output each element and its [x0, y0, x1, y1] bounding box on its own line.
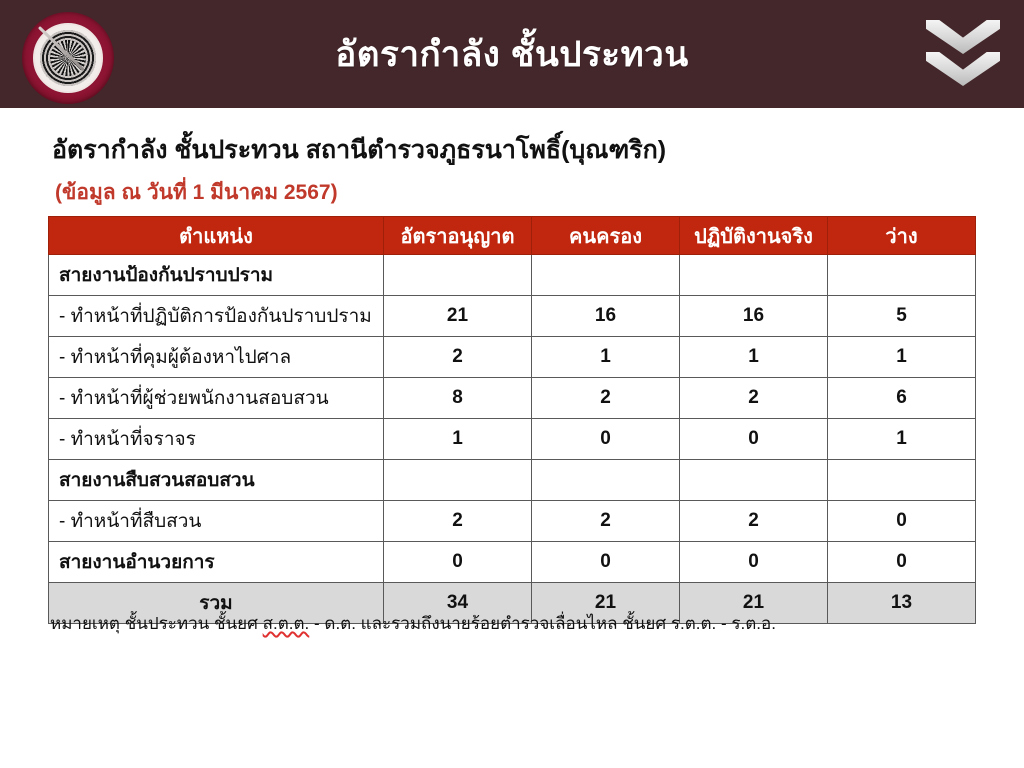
cell-filled: 1 — [532, 337, 680, 378]
table-header-row: ตำแหน่ง อัตราอนุญาต คนครอง ปฏิบัติงานจริ… — [49, 217, 976, 255]
cell-vacant — [828, 460, 976, 501]
table-row: - ทำหน้าที่ปฏิบัติการป้องกันปราบปราม2116… — [49, 296, 976, 337]
cell-allowed: 2 — [384, 501, 532, 542]
cell-position: สายงานอำนวยการ — [49, 542, 384, 583]
cell-position: - ทำหน้าที่สืบสวน — [49, 501, 384, 542]
cell-vacant: 0 — [828, 542, 976, 583]
cell-actual: 0 — [680, 419, 828, 460]
cell-vacant: 0 — [828, 501, 976, 542]
footnote-suffix: - ด.ต. และรวมถึงนายร้อยตำรวจเลื่อนไหล ชั… — [309, 614, 776, 633]
cell-vacant: 1 — [828, 419, 976, 460]
table-row: สายงานสืบสวนสอบสวน — [49, 460, 976, 501]
cell-position: สายงานสืบสวนสอบสวน — [49, 460, 384, 501]
as-of-date: (ข้อมูล ณ วันที่ 1 มีนาคม 2567) — [55, 176, 338, 209]
cell-position: - ทำหน้าที่ผู้ช่วยพนักงานสอบสวน — [49, 378, 384, 419]
column-header-filled: คนครอง — [532, 217, 680, 255]
cell-actual: 1 — [680, 337, 828, 378]
table-row: - ทำหน้าที่สืบสวน2220 — [49, 501, 976, 542]
slide-root: อัตรากำลัง ชั้นประทวน อัตรากำลัง ชั้นประ… — [0, 0, 1024, 768]
cell-position: - ทำหน้าที่คุมผู้ต้องหาไปศาล — [49, 337, 384, 378]
cell-vacant — [828, 255, 976, 296]
cell-actual: 2 — [680, 378, 828, 419]
cell-actual: 16 — [680, 296, 828, 337]
content-subtitle: อัตรากำลัง ชั้นประทวน สถานีตำรวจภูธรนาโพ… — [52, 130, 666, 170]
cell-vacant: 6 — [828, 378, 976, 419]
cell-allowed: 0 — [384, 542, 532, 583]
footnote-misspelled-term: ส.ต.ต. — [263, 614, 310, 633]
cell-allowed — [384, 255, 532, 296]
cell-allowed: 1 — [384, 419, 532, 460]
cell-actual: 0 — [680, 542, 828, 583]
content-area: อัตรากำลัง ชั้นประทวน สถานีตำรวจภูธรนาโพ… — [0, 108, 1024, 768]
table-row: - ทำหน้าที่ผู้ช่วยพนักงานสอบสวน8226 — [49, 378, 976, 419]
cell-actual — [680, 255, 828, 296]
page-title: อัตรากำลัง ชั้นประทวน — [0, 0, 1024, 108]
column-header-allowed: อัตราอนุญาต — [384, 217, 532, 255]
manning-table-wrapper: ตำแหน่ง อัตราอนุญาต คนครอง ปฏิบัติงานจริ… — [48, 216, 975, 624]
cell-filled: 2 — [532, 378, 680, 419]
cell-filled: 0 — [532, 542, 680, 583]
cell-filled: 16 — [532, 296, 680, 337]
column-header-actual: ปฏิบัติงานจริง — [680, 217, 828, 255]
double-chevron-rank-insignia-icon — [920, 14, 1006, 100]
cell-actual — [680, 460, 828, 501]
cell-filled — [532, 255, 680, 296]
manning-table: ตำแหน่ง อัตราอนุญาต คนครอง ปฏิบัติงานจริ… — [48, 216, 976, 624]
cell-position: - ทำหน้าที่ปฏิบัติการป้องกันปราบปราม — [49, 296, 384, 337]
cell-filled — [532, 460, 680, 501]
chevron-down-icon-top — [926, 20, 1000, 54]
cell-allowed — [384, 460, 532, 501]
table-row: สายงานป้องกันปราบปราม — [49, 255, 976, 296]
footnote-prefix: หมายเหตุ ชั้นประทวน ชั้นยศ — [50, 614, 263, 633]
table-row: - ทำหน้าที่จราจร1001 — [49, 419, 976, 460]
table-row: - ทำหน้าที่คุมผู้ต้องหาไปศาล2111 — [49, 337, 976, 378]
cell-position: สายงานป้องกันปราบปราม — [49, 255, 384, 296]
cell-allowed: 21 — [384, 296, 532, 337]
cell-vacant: 13 — [828, 583, 976, 624]
table-body: สายงานป้องกันปราบปราม- ทำหน้าที่ปฏิบัติก… — [49, 255, 976, 624]
cell-actual: 2 — [680, 501, 828, 542]
table-head: ตำแหน่ง อัตราอนุญาต คนครอง ปฏิบัติงานจริ… — [49, 217, 976, 255]
cell-vacant: 5 — [828, 296, 976, 337]
table-row: สายงานอำนวยการ0000 — [49, 542, 976, 583]
cell-position: - ทำหน้าที่จราจร — [49, 419, 384, 460]
cell-filled: 2 — [532, 501, 680, 542]
cell-allowed: 8 — [384, 378, 532, 419]
column-header-vacant: ว่าง — [828, 217, 976, 255]
cell-filled: 0 — [532, 419, 680, 460]
chevron-down-icon-bottom — [926, 52, 1000, 86]
column-header-position: ตำแหน่ง — [49, 217, 384, 255]
table-footnote: หมายเหตุ ชั้นประทวน ชั้นยศ ส.ต.ต. - ด.ต.… — [50, 610, 776, 637]
cell-vacant: 1 — [828, 337, 976, 378]
cell-allowed: 2 — [384, 337, 532, 378]
